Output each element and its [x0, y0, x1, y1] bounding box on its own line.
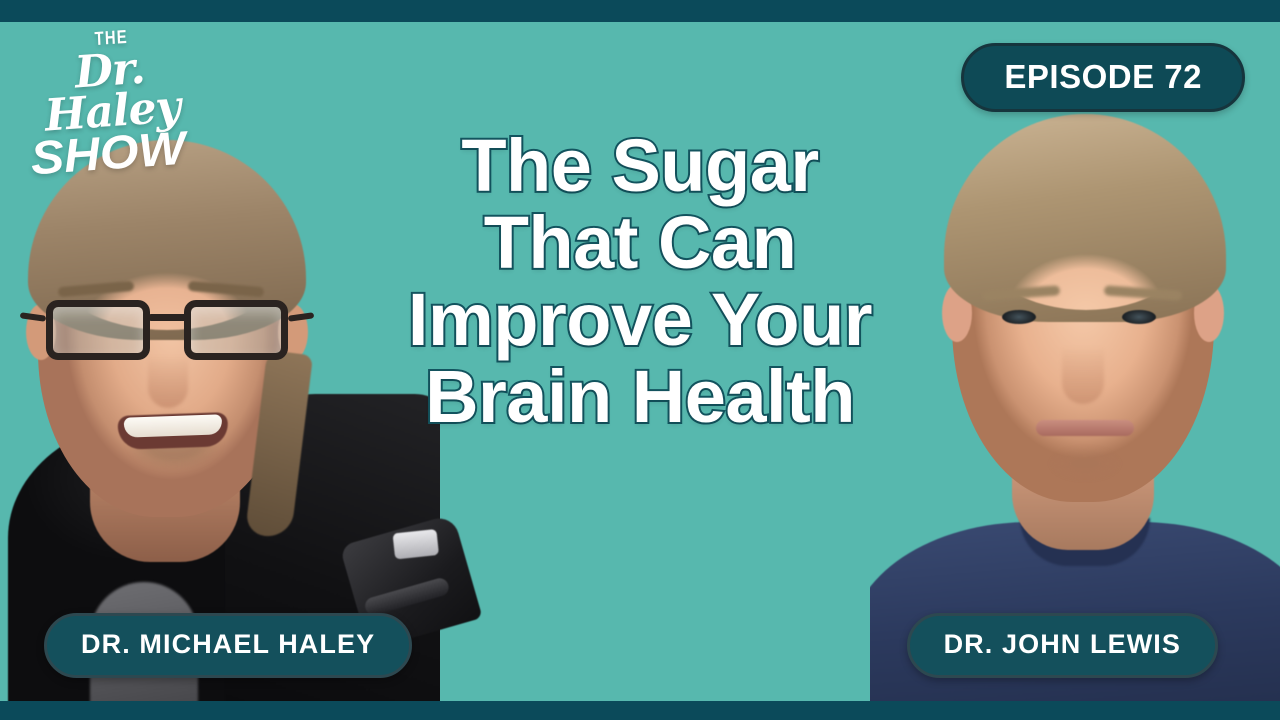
top-letterbox-bar: [0, 0, 1280, 22]
page-title: The Sugar That Can Improve Your Brain He…: [350, 128, 930, 436]
name-badge-host: DR. MICHAEL HALEY: [44, 613, 412, 678]
title-line-4: Brain Health: [350, 359, 930, 436]
logo-word-show: SHOW: [3, 124, 213, 182]
name-badge-guest: DR. JOHN LEWIS: [907, 613, 1218, 678]
name-badge-guest-label: DR. JOHN LEWIS: [944, 629, 1181, 659]
title-line-2: That Can: [350, 205, 930, 282]
bottom-letterbox-bar: [0, 701, 1280, 720]
eyeglass-lens-left: [46, 300, 150, 360]
host-nose: [148, 342, 188, 408]
eyeglass-bridge: [148, 314, 188, 321]
episode-badge: EPISODE 72: [961, 43, 1245, 112]
video-thumbnail-canvas: THE Dr. Haley SHOW EPISODE 72 The Sugar …: [0, 0, 1280, 720]
guest-mouth: [1036, 420, 1134, 436]
show-logo[interactable]: THE Dr. Haley SHOW: [16, 28, 206, 174]
host-teeth: [124, 414, 223, 437]
guest-nose: [1062, 334, 1104, 404]
guest-chin: [1038, 446, 1132, 490]
episode-badge-label: EPISODE 72: [1004, 58, 1202, 95]
name-badge-host-label: DR. MICHAEL HALEY: [81, 629, 375, 659]
guest-eye-left: [1002, 310, 1036, 324]
guest-eye-right: [1122, 310, 1156, 324]
title-line-3: Improve Your: [350, 282, 930, 359]
eyeglass-lens-right: [184, 300, 288, 360]
title-line-1: The Sugar: [350, 128, 930, 205]
